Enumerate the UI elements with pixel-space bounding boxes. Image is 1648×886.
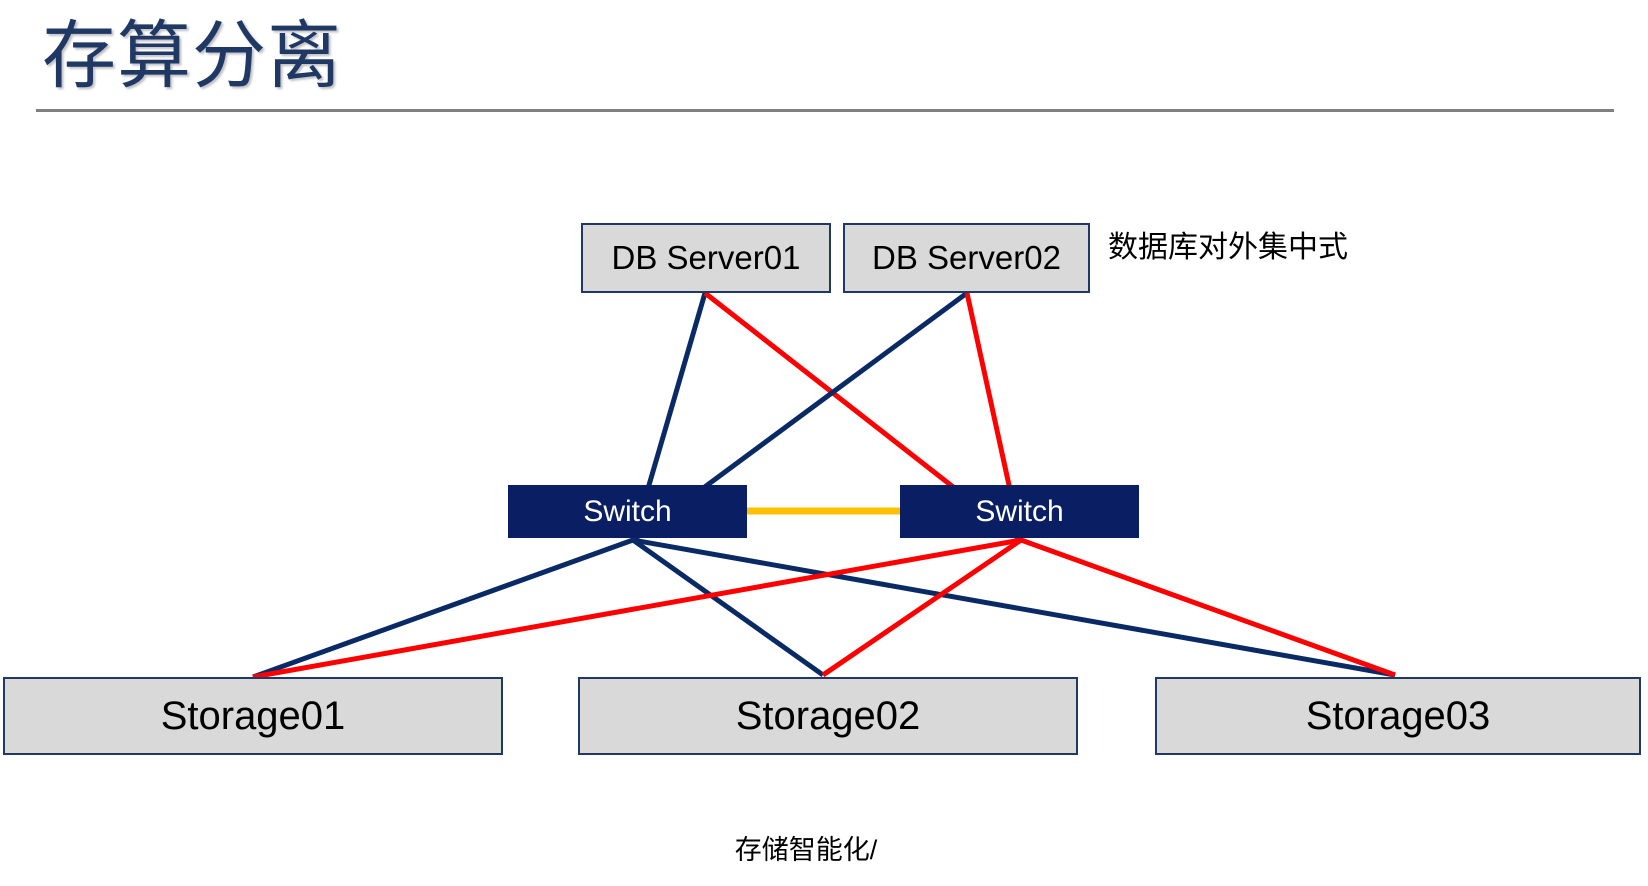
annotation-storage-line-1: 存储智能化/ xyxy=(0,832,1630,868)
node-storage-02[interactable]: Storage02 xyxy=(578,677,1078,755)
connection-line-sw01-st03 xyxy=(633,540,1395,675)
node-switch-01[interactable]: Switch xyxy=(508,485,747,538)
annotation-storage-tier: 存储智能化/ 分布式 xyxy=(0,760,1630,886)
node-label: DB Server02 xyxy=(872,239,1061,277)
node-db-server-01[interactable]: DB Server01 xyxy=(581,223,831,293)
connection-line-sw01-st01 xyxy=(253,540,633,677)
node-switch-02[interactable]: Switch xyxy=(900,485,1139,538)
node-label: DB Server01 xyxy=(612,239,801,277)
node-db-server-02[interactable]: DB Server02 xyxy=(843,223,1090,293)
node-label: Storage02 xyxy=(736,694,921,739)
node-storage-01[interactable]: Storage01 xyxy=(3,677,503,755)
node-label: Storage03 xyxy=(1306,694,1491,739)
page-title: 存算分离 xyxy=(42,8,342,104)
connection-lines xyxy=(253,293,1395,677)
connection-line-sw02-st03 xyxy=(1021,540,1395,675)
connection-line-sw01-st02 xyxy=(633,540,823,675)
connection-line-sw02-st02 xyxy=(823,540,1021,675)
node-label: Storage01 xyxy=(161,694,346,739)
slide-canvas: 存算分离 DB Server01 DB Server02 Switch Swit… xyxy=(0,0,1648,886)
node-storage-03[interactable]: Storage03 xyxy=(1155,677,1641,755)
annotation-db-tier: 数据库对外集中式 xyxy=(1108,226,1348,270)
node-label: Switch xyxy=(975,495,1063,529)
title-divider xyxy=(36,109,1614,112)
connection-line-sw02-st01 xyxy=(253,540,1021,677)
node-label: Switch xyxy=(583,495,671,529)
